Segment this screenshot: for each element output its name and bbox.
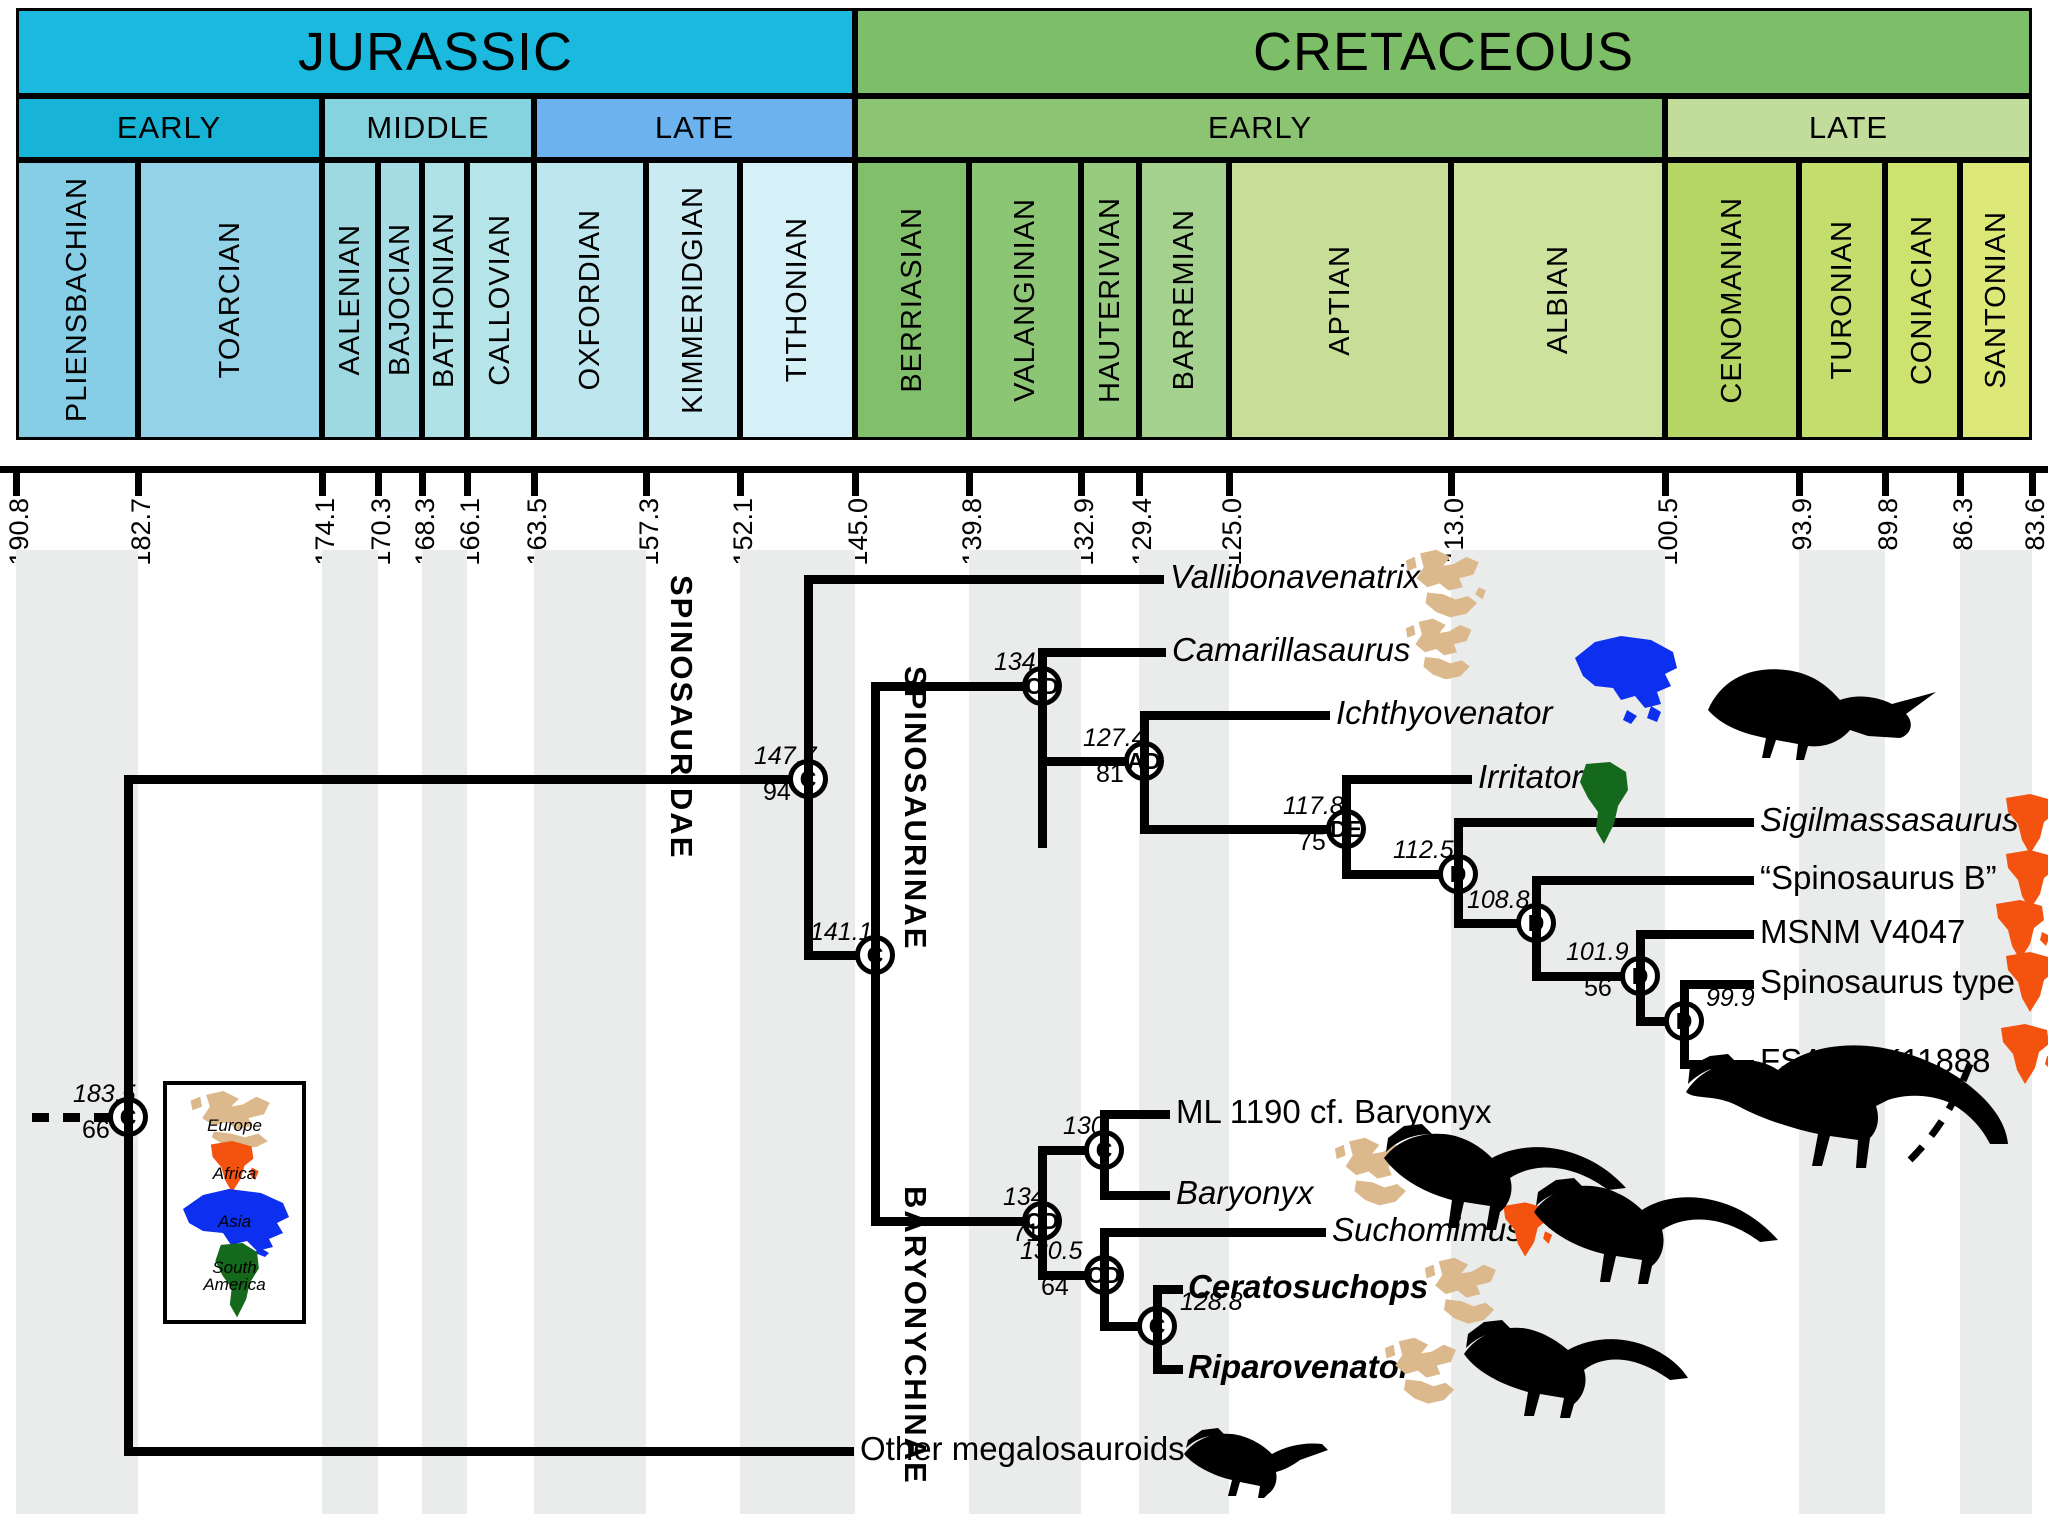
branch-suchomimus xyxy=(1100,1228,1326,1237)
node-spino-d2-age: 108.8 xyxy=(1467,886,1530,915)
branch-spino-d1-vertical xyxy=(1454,818,1463,928)
branch-bary-c1-vertical xyxy=(1100,1110,1109,1200)
branch-ceratosuchops xyxy=(1153,1285,1183,1294)
branch-spinosaurus-type xyxy=(1680,980,1754,989)
node-spino-d3-age: 101.9 xyxy=(1566,938,1629,967)
branch-msnm xyxy=(1636,930,1754,939)
legend-label-europe: Europe xyxy=(167,1117,302,1134)
taxon-irritator: Irritator xyxy=(1478,758,1583,796)
node-spino-d1-age: 112.5 xyxy=(1393,836,1454,865)
suchomimus-silhouette xyxy=(1530,1166,1780,1286)
branch-spinosauridae-stem xyxy=(124,775,808,784)
legend-label-asia: Asia xyxy=(167,1213,302,1230)
branch-to-spino-d1 xyxy=(1342,870,1442,879)
branch-spino-d2-vertical xyxy=(1532,876,1541,981)
node-spino-de-age: 117.8 xyxy=(1283,792,1344,821)
branch-ichthyovenator xyxy=(1140,711,1330,720)
branch-baryonychinae-stem xyxy=(871,1217,1026,1226)
clade-label-spinosauridae: SPINOSAURIDAE xyxy=(663,575,699,859)
branch-to-spino-d2 xyxy=(1454,919,1520,928)
node-bary-c1-age: 130 xyxy=(1063,1112,1105,1141)
biogeographic-legend: Europe Africa Asia South America xyxy=(163,1081,306,1324)
ceratosuchops-silhouette xyxy=(1460,1310,1690,1420)
branch-riparovenator xyxy=(1153,1365,1183,1374)
branch-bary-cd2-vertical xyxy=(1100,1228,1109,1331)
branch-spinosaurus-b xyxy=(1532,876,1754,885)
taxon-vallibonavenatrix: Vallibonavenatrix xyxy=(1170,558,1420,596)
taxon-msnm-v4047: MSNM V4047 xyxy=(1760,913,1965,951)
branch-camarillasaurus xyxy=(1038,648,1166,657)
europe-map-icon-vallibonavenatrix xyxy=(1400,548,1490,628)
branch-spino-de-vertical xyxy=(1342,775,1351,879)
taxon-camarillasaurus: Camarillasaurus xyxy=(1172,631,1410,669)
node-root-support: 66 xyxy=(82,1116,110,1145)
legend-label-south-america-line2: America xyxy=(167,1276,302,1293)
branch-spinosaurinae-stem xyxy=(871,682,1026,691)
node-spinosauridae-support: 94 xyxy=(763,778,791,807)
branch-to-bary-c1 xyxy=(1038,1146,1088,1155)
branch-spinosauridae-vertical xyxy=(804,575,813,955)
branch-bary-c2-vertical xyxy=(1153,1285,1162,1374)
europe-map-icon-camarillasaurus xyxy=(1398,617,1484,689)
branch-spino-ad-vertical xyxy=(1140,711,1149,834)
taxon-ichthyovenator: Ichthyovenator xyxy=(1336,694,1552,732)
phylogenetic-tree: C 183.5 66 C 147.7 94 C 141.1 CD 134 AD … xyxy=(0,0,2048,1514)
branch-baryonyx xyxy=(1100,1191,1170,1200)
branch-root-vertical xyxy=(124,775,133,1455)
node-spino-de-support: 75 xyxy=(1298,828,1326,857)
legend-label-africa: Africa xyxy=(167,1165,302,1182)
branch-ml1190 xyxy=(1100,1110,1170,1119)
taxon-spinosaurus-type-genus: Spinosaurus xyxy=(1760,963,1943,1000)
taxon-sigilmassasaurus: Sigilmassasaurus xyxy=(1760,801,2019,839)
legend-label-south-america-line1: South xyxy=(167,1259,302,1276)
node-spino-ad-age: 127.4 xyxy=(1083,724,1146,753)
node-subfamilies-age: 141.1 xyxy=(810,918,873,947)
node-spino-ad-support: 81 xyxy=(1096,760,1124,789)
africa-map-icon-spinosaurus-type xyxy=(2000,950,2048,1024)
node-bary-cd2-support: 64 xyxy=(1041,1273,1069,1302)
taxon-spinosaurus-b: “Spinosaurus B” xyxy=(1760,859,1997,897)
branch-to-bary-c2 xyxy=(1100,1322,1140,1331)
spinosaurid-silhouette-ichthyovenator xyxy=(1700,660,1940,765)
taxon-spinosaurus-b-suffix: B” xyxy=(1954,859,1996,896)
taxon-spinosaurus-b-genus: Spinosaurus xyxy=(1771,859,1954,896)
south-america-map-icon-irritator xyxy=(1570,760,1640,850)
branch-irritator xyxy=(1342,775,1472,784)
asia-map-icon-ichthyovenator xyxy=(1565,630,1685,730)
branch-spino-d3-vertical xyxy=(1636,930,1645,1026)
branch-other-megalosauroids xyxy=(124,1447,854,1456)
taxon-ceratosuchops: Ceratosuchops xyxy=(1188,1268,1428,1306)
europe-map-icon-riparovenator xyxy=(1378,1336,1468,1414)
clade-label-spinosaurinae: SPINOSAURINAE xyxy=(897,666,933,950)
branch-spino-cd-vertical xyxy=(1038,648,1047,848)
branch-subfamilies-vertical xyxy=(871,682,880,1222)
branch-to-subfamilies xyxy=(804,951,859,960)
taxon-other-megalosauroids: Other megalosauroids xyxy=(860,1430,1185,1468)
other-megalosauroid-silhouette xyxy=(1180,1420,1330,1500)
taxon-spinosaurus-type: Spinosaurus type xyxy=(1760,963,2015,1001)
branch-vallibonavenatrix xyxy=(804,575,1164,584)
taxon-ml1190-prefix: ML 1190 cf. xyxy=(1176,1093,1354,1130)
node-bary-cd2-age: 130.5 xyxy=(1020,1237,1083,1266)
taxon-spinosaurus-b-quote-open: “ xyxy=(1760,859,1771,896)
node-spino-cd-age: 134 xyxy=(994,648,1036,677)
node-spino-d3-support: 56 xyxy=(1584,974,1612,1003)
fsac-connector-curve xyxy=(1870,1060,1980,1170)
taxon-baryonyx: Baryonyx xyxy=(1176,1174,1314,1212)
